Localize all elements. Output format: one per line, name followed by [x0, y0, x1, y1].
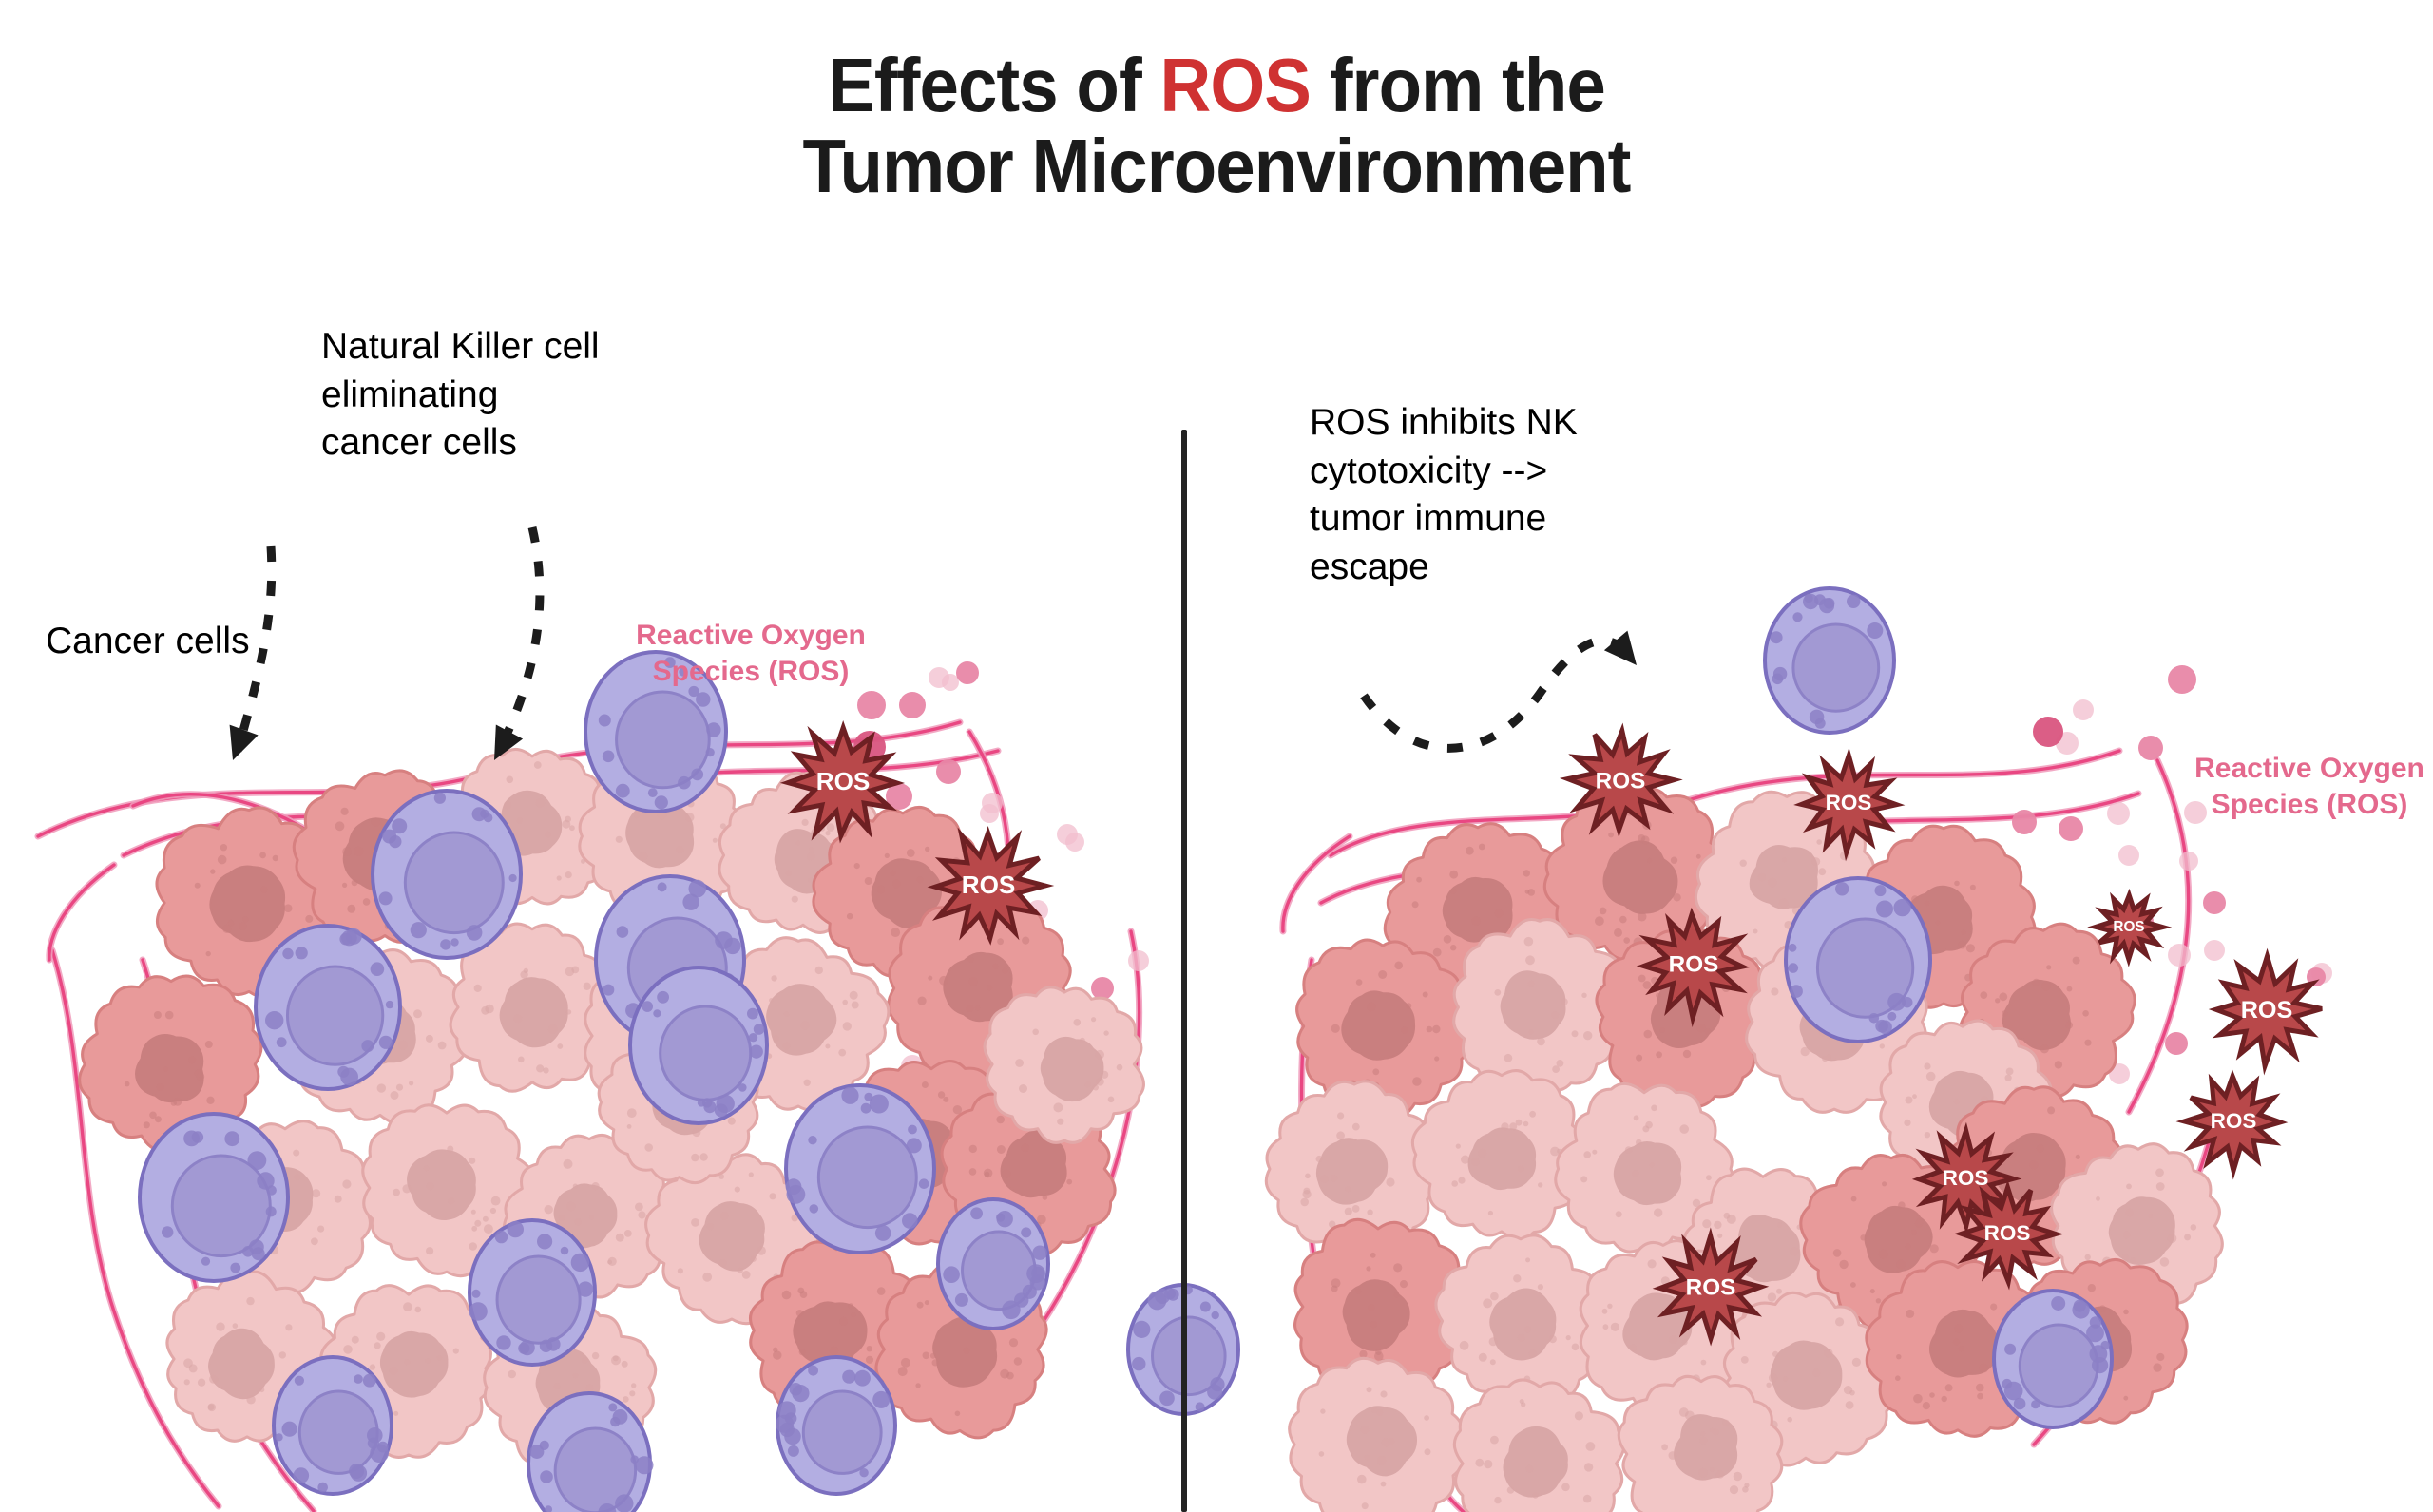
- vessel-strand-light: [1321, 794, 2138, 903]
- cancer-cell-nucleus: [2003, 981, 2070, 1049]
- cancer-cell-speckle: [658, 811, 667, 820]
- cancer-cell-membrane: [2021, 1259, 2188, 1423]
- cancer-cell-speckle: [935, 914, 941, 920]
- cancer-cell-speckle: [1367, 1003, 1376, 1012]
- cancer-cell-speckle: [1489, 1337, 1498, 1346]
- cancer-cell-speckle: [407, 811, 416, 820]
- cancer-cell-speckle: [773, 1036, 779, 1043]
- cancer-cell-speckle: [352, 1336, 359, 1344]
- cancer-cell-speckle: [1924, 1062, 1930, 1069]
- cancer-cell: [646, 1154, 819, 1324]
- cancer-cell-speckle: [1043, 1195, 1048, 1200]
- cancer-cell-speckle: [1839, 1260, 1848, 1269]
- nk-cell-granule: [2092, 1357, 2108, 1373]
- cancer-cell-speckle: [626, 784, 635, 793]
- cancer-cell-speckle: [1015, 1059, 1024, 1067]
- nk-cell-granule: [919, 1178, 929, 1189]
- cancer-cell-speckle: [2123, 1310, 2129, 1315]
- cancer-cell-speckle: [376, 1332, 385, 1341]
- cancer-cell-membrane: [711, 938, 889, 1110]
- cancer-cell-membrane: [1961, 924, 2135, 1096]
- ros-particle: [815, 896, 838, 919]
- cancer-cell-speckle: [757, 1246, 766, 1254]
- nk-cell-granule: [636, 1456, 654, 1474]
- cancer-cell-speckle: [517, 817, 524, 824]
- cancer-cell-speckle: [413, 1009, 422, 1018]
- cancer-cell-speckle: [1479, 844, 1485, 851]
- nk-cell-granule: [266, 1206, 277, 1216]
- cancer-cell-speckle: [411, 906, 417, 912]
- nk-cell-granule: [294, 1467, 310, 1483]
- cancer-cell-speckle: [702, 1273, 712, 1282]
- nk-cell-granule: [864, 1093, 872, 1101]
- cancer-cell-speckle: [1345, 1208, 1352, 1215]
- cancer-cell-speckle: [968, 977, 978, 986]
- cancer-cell-speckle: [713, 838, 718, 843]
- cancer-cell-speckle: [545, 832, 550, 837]
- cancer-cell-speckle: [171, 1100, 177, 1105]
- ros-particle: [2168, 944, 2191, 967]
- cancer-cell-membrane: [504, 1135, 669, 1297]
- cancer-cell-speckle: [1451, 1180, 1458, 1187]
- cancer-cell-speckle: [278, 1174, 284, 1179]
- cancer-cell-speckle: [697, 1114, 703, 1120]
- nk-cell-granule: [648, 788, 658, 797]
- cancer-cell-speckle: [925, 847, 929, 852]
- vessel-strand-dark: [1359, 969, 1464, 1512]
- nk-cell-granule: [495, 1231, 508, 1243]
- cancer-cell-speckle: [1765, 1420, 1772, 1427]
- cancer-cell-speckle: [1724, 1213, 1731, 1219]
- cancer-cell-nucleus: [1317, 1139, 1387, 1203]
- cancer-cell-speckle: [557, 875, 562, 880]
- cancer-cell-speckle: [520, 970, 527, 978]
- title-line-1: Effects of ROS from the: [86, 46, 2348, 126]
- cancer-cell-speckle: [584, 1018, 589, 1024]
- cancer-cell-speckle: [2067, 986, 2073, 992]
- cancer-cell: [1385, 824, 1565, 1000]
- nk-cell-granule: [808, 1136, 816, 1144]
- cancer-cell-speckle: [246, 1297, 254, 1305]
- nk-cell-nucleus: [803, 1391, 881, 1473]
- cancer-cell-speckle: [508, 1370, 516, 1379]
- cancer-cell-membrane: [197, 1121, 371, 1296]
- cancer-cell: [942, 1086, 1115, 1254]
- ros-particle: [1036, 937, 1063, 964]
- cancer-cell-speckle: [2032, 979, 2040, 986]
- cancer-cell-nucleus: [1866, 1207, 1932, 1273]
- cancer-cell-nucleus: [1042, 1038, 1103, 1101]
- cancer-cell-speckle: [485, 1005, 493, 1013]
- ros-particle: [973, 1016, 994, 1037]
- cancer-cell-speckle: [415, 1307, 422, 1313]
- cancer-cell-speckle: [872, 1187, 880, 1195]
- cancer-cell-speckle: [690, 774, 698, 781]
- cancer-cell-speckle: [592, 1182, 600, 1190]
- cancer-cell-speckle: [1766, 1383, 1771, 1388]
- ros-particle: [1002, 1044, 1021, 1063]
- nk-cell-granule: [1023, 1285, 1037, 1299]
- cancer-cell-speckle: [1337, 1112, 1344, 1119]
- cancer-cell-speckle: [1912, 1094, 1917, 1099]
- cancer-cell-speckle: [1521, 1402, 1525, 1407]
- cancer-cell-speckle: [483, 811, 492, 820]
- cancer-cell-speckle: [1673, 893, 1680, 901]
- vessel-network-right: [1283, 751, 2214, 1512]
- nk-cell-granule: [472, 807, 487, 821]
- cancer-cell: [363, 1105, 534, 1276]
- cancer-cell-speckle: [1698, 1468, 1708, 1478]
- nk-cell-membrane: [256, 926, 400, 1089]
- cancer-cell-speckle: [1819, 1028, 1827, 1036]
- cancer-cell-speckle: [696, 1005, 704, 1014]
- cancer-cell-speckle: [1693, 1199, 1700, 1207]
- cancer-cell-speckle: [1009, 1338, 1018, 1347]
- cancer-cell-speckle: [592, 1352, 599, 1359]
- ros-particle: [936, 759, 961, 784]
- cancer-cell-speckle: [1380, 1390, 1387, 1397]
- cancer-cell-speckle: [1424, 1415, 1429, 1421]
- cancer-cell-speckle: [363, 898, 371, 906]
- nk-cell-granule: [2090, 1345, 2108, 1363]
- cancer-cell-speckle: [1524, 1376, 1531, 1383]
- cancer-cell-speckle: [507, 776, 514, 784]
- cancer-cell-speckle: [1331, 1286, 1338, 1292]
- cancer-cell-speckle: [2041, 982, 2051, 991]
- cancer-cell-speckle: [1645, 1121, 1653, 1129]
- cancer-cell-speckle: [964, 1348, 970, 1354]
- cancer-cell-speckle: [534, 761, 542, 769]
- cancer-cell-nucleus: [1615, 1142, 1680, 1204]
- cancer-cell-speckle: [1484, 1460, 1492, 1468]
- cancer-cell: [1867, 1261, 2045, 1436]
- cancer-cell-speckle: [885, 1152, 892, 1159]
- cancer-cell-speckle: [2122, 1254, 2129, 1261]
- nk-cell: [469, 1220, 595, 1365]
- cancer-cell-speckle: [891, 871, 896, 876]
- cancer-cell-speckle: [248, 1216, 256, 1224]
- cancer-cell-membrane: [580, 754, 747, 922]
- nk-cell-membrane: [274, 1357, 392, 1494]
- cancer-cell-speckle: [1572, 1030, 1579, 1037]
- cancer-cell-speckle: [634, 812, 641, 818]
- cancer-cell-speckle: [838, 1049, 846, 1057]
- cancer-cell-speckle: [209, 1375, 218, 1384]
- cancer-cell-speckle: [1794, 919, 1802, 927]
- nk-cell-granule: [192, 1131, 203, 1142]
- cancer-cell-speckle: [2070, 1174, 2078, 1181]
- immune-escape-arrow-head: [1604, 631, 1648, 676]
- cancer-cell-speckle: [837, 894, 843, 900]
- cancer-cell-speckle: [1913, 1394, 1923, 1404]
- ros-burst: ROS: [1802, 756, 1897, 852]
- cancer-cell-speckle: [2082, 1010, 2089, 1017]
- cancer-cell-membrane: [294, 771, 470, 942]
- cancer-cell-speckle: [767, 1053, 773, 1059]
- cancer-cell: [80, 976, 261, 1153]
- ros-burst-label: ROS: [1984, 1221, 2031, 1245]
- cancer-cell-speckle: [1742, 1486, 1749, 1493]
- cancer-cell-speckle: [155, 1116, 162, 1122]
- cancer-cell-speckle: [1659, 1027, 1664, 1032]
- cancer-cell-speckle: [1331, 1278, 1341, 1288]
- nk-cell-membrane: [630, 967, 767, 1123]
- cancer-cell-speckle: [728, 1118, 736, 1125]
- panel-divider: [1181, 430, 1187, 1512]
- cancer-cell-speckle: [830, 1347, 838, 1355]
- cancer-cell-nucleus: [889, 1120, 961, 1188]
- cancer-cell-speckle: [1393, 1263, 1402, 1272]
- cancer-cell: [1961, 924, 2135, 1096]
- ros-burst-label: ROS: [1826, 791, 1872, 814]
- nk-cell: [786, 1085, 934, 1253]
- cancer-cell-speckle: [1490, 1436, 1499, 1445]
- cancer-cell-speckle: [189, 1364, 198, 1372]
- cancer-cell-speckle: [1961, 1118, 1966, 1123]
- cancer-cell-speckle: [2096, 1196, 2100, 1201]
- cancer-cell-speckle: [923, 1352, 930, 1360]
- cancer-cell-speckle: [1592, 1150, 1597, 1155]
- cancer-cell-speckle: [347, 1058, 355, 1066]
- cancer-cell-speckle: [581, 859, 585, 864]
- cancer-cell-speckle: [1846, 1401, 1854, 1409]
- cancer-cell-nucleus: [1490, 1289, 1555, 1359]
- cancer-cell-speckle: [684, 1064, 691, 1071]
- cancer-cell-speckle: [205, 1041, 213, 1048]
- cancer-cell-speckle: [285, 1324, 292, 1330]
- ros-particle: [857, 691, 886, 719]
- cancer-cell-speckle: [208, 1404, 217, 1412]
- cancer-cell-speckle: [795, 841, 800, 846]
- cancer-cell-speckle: [901, 1358, 910, 1368]
- cancer-cell-speckle: [1879, 1250, 1888, 1259]
- cancer-cell-speckle: [804, 1080, 811, 1086]
- nk-cell-granule: [518, 1343, 529, 1354]
- nk-cell-granule: [578, 1281, 593, 1296]
- cancer-cell: [719, 773, 882, 932]
- cancer-cell-speckle: [2006, 1068, 2014, 1076]
- vessel-strand-dark: [1302, 960, 1407, 1512]
- vessel-strand-light: [941, 732, 1008, 1074]
- cancer-cell-speckle: [969, 1168, 977, 1176]
- cancer-cell-speckle: [877, 886, 885, 893]
- cancer-cell-speckle: [1366, 1266, 1370, 1271]
- cancer-cell-speckle: [347, 905, 355, 913]
- cancer-cell-speckle: [1651, 977, 1658, 985]
- cancer-cell-speckle: [2099, 1305, 2107, 1312]
- cancer-cell-speckle: [806, 1364, 815, 1373]
- ros-burst-shape: [2096, 895, 2162, 959]
- nk-cell-granule: [1835, 882, 1849, 895]
- cancer-cell-speckle: [607, 1260, 612, 1265]
- cancer-cell-speckle: [943, 1097, 948, 1102]
- cancer-cell-nucleus: [381, 1332, 448, 1397]
- cancer-cell-speckle: [2032, 1223, 2040, 1231]
- cancer-cell-membrane: [293, 949, 469, 1123]
- cancer-cell-nucleus: [408, 1150, 475, 1219]
- nk-cell-granule: [1867, 622, 1883, 639]
- cancer-cell-speckle: [773, 1350, 781, 1359]
- cancer-cell-speckle: [1816, 839, 1822, 845]
- cancer-cell: [1454, 919, 1630, 1090]
- nk-cell-granule: [1805, 594, 1813, 603]
- nk-cell-granule: [657, 991, 669, 1004]
- nk-cell-granule: [603, 751, 615, 763]
- cancer-cell-speckle: [1995, 998, 2000, 1003]
- nk-cell-granule: [386, 1001, 393, 1008]
- cancer-cell-speckle: [295, 1174, 300, 1179]
- ros-particle: [2073, 699, 2094, 720]
- nk-cell-granule: [724, 938, 740, 954]
- nk-cell-granule: [379, 1036, 393, 1049]
- cancer-cell-speckle: [1954, 881, 1960, 887]
- cancer-cell-speckle: [1661, 1444, 1668, 1450]
- nk-cell-granule: [282, 1422, 297, 1437]
- cancer-cell-nucleus: [1623, 1293, 1691, 1359]
- nk-cell-nucleus: [287, 967, 382, 1064]
- vessel-strand-light: [38, 722, 960, 836]
- cancer-cell-speckle: [1945, 1384, 1953, 1391]
- cancer-cell-speckle: [370, 1364, 375, 1369]
- cancer-cell-speckle: [254, 1242, 263, 1252]
- cancer-cell-speckle: [800, 1291, 808, 1298]
- nk-cell-granule: [1847, 595, 1860, 608]
- cancer-cell-speckle: [1784, 921, 1792, 929]
- cancer-cell-speckle: [1977, 1393, 1983, 1400]
- cancer-cell-speckle: [1550, 1147, 1560, 1157]
- cancer-cell-speckle: [1614, 928, 1622, 937]
- cancer-cell-speckle: [1581, 993, 1586, 998]
- nk-cell-granule: [520, 1340, 535, 1355]
- cancer-cell-speckle: [692, 1017, 700, 1025]
- cancer-cell-membrane: [889, 900, 1070, 1082]
- cancer-cell-speckle: [1811, 857, 1820, 866]
- cancer-cell-nucleus: [1603, 841, 1676, 913]
- cancer-cell-speckle: [1583, 1495, 1592, 1503]
- cancer-cell-speckle: [1450, 889, 1456, 894]
- cancer-cell-speckle: [195, 1069, 202, 1077]
- cancer-cell-speckle: [1895, 1375, 1901, 1381]
- cancer-cell-speckle: [1475, 1459, 1484, 1467]
- cancer-cell-speckle: [535, 798, 545, 808]
- cancer-cell-speckle: [609, 1402, 618, 1410]
- nk-cell-granule: [242, 1246, 254, 1257]
- nk-cell-granule: [706, 722, 720, 737]
- nk-cell-granule: [787, 1185, 806, 1204]
- cancer-cell-speckle: [1356, 979, 1363, 986]
- nk-cell-granule: [363, 1374, 376, 1388]
- ros-particle: [2127, 909, 2154, 935]
- cancer-cell-membrane: [1544, 787, 1725, 965]
- cancer-cell-speckle: [490, 1208, 496, 1214]
- ros-particle: [980, 804, 999, 823]
- cancer-cell-speckle: [1835, 1317, 1844, 1326]
- cancer-cell: [1580, 1241, 1749, 1415]
- cancer-cell-speckle: [1925, 1132, 1930, 1138]
- cancer-cell-speckle: [554, 1383, 561, 1389]
- nk-cell-nucleus: [405, 833, 503, 933]
- cancer-cell-membrane: [1297, 940, 1471, 1119]
- cancer-cell-speckle: [663, 1089, 671, 1097]
- cancer-cell-speckle: [1468, 963, 1473, 967]
- cancer-cell-speckle: [575, 1218, 582, 1225]
- cancer-cell-speckle: [681, 887, 688, 893]
- cancer-cell-speckle: [928, 976, 932, 981]
- vessel-strand-dark: [133, 794, 314, 834]
- cancer-cell-speckle: [184, 1379, 190, 1385]
- cancer-cell-speckle: [1367, 1387, 1372, 1392]
- cancer-cell-speckle: [1651, 1105, 1657, 1112]
- cancer-cell-nucleus: [872, 859, 941, 928]
- cancer-cell-speckle: [808, 877, 814, 883]
- cancer-cell-speckle: [678, 1268, 683, 1273]
- cancer-cell-speckle: [1876, 1298, 1881, 1303]
- cancer-cell-speckle: [1036, 1222, 1042, 1228]
- cancer-cell-speckle: [1466, 847, 1474, 855]
- cancer-cell-speckle: [2126, 1209, 2134, 1216]
- cancer-cell-speckle: [565, 967, 575, 977]
- cancer-cell-speckle: [1488, 1211, 1493, 1215]
- cancer-cell-speckle: [1644, 1030, 1653, 1039]
- nk-cell-granule: [747, 1008, 758, 1020]
- ros-burst-shape: [788, 728, 896, 836]
- cancer-cell: [836, 1062, 1025, 1244]
- nk-cell-granule: [788, 1445, 799, 1457]
- cancer-cell-speckle: [1321, 1175, 1330, 1183]
- nk-cell-nucleus: [617, 692, 710, 788]
- cancer-cell-speckle: [917, 876, 924, 883]
- nk-cell-granule: [340, 1068, 358, 1086]
- nk-cell-granule: [411, 922, 427, 938]
- cancer-cell-speckle: [2122, 1266, 2132, 1275]
- cancer-cell-speckle: [568, 1262, 574, 1268]
- cancer-cell-speckle: [317, 1226, 324, 1233]
- cancer-cell-speckle: [675, 782, 680, 788]
- cancer-cell-speckle: [2046, 1326, 2052, 1331]
- cancer-cell-speckle: [1768, 1292, 1776, 1301]
- cancer-cell-speckle: [1734, 1472, 1742, 1481]
- cancer-cell-speckle: [188, 1056, 196, 1063]
- nk-cell-granule: [1876, 901, 1893, 918]
- cancer-cell-speckle: [1978, 1167, 1983, 1173]
- nk-cell-granule: [785, 1412, 797, 1425]
- nk-cell-granule: [317, 1483, 328, 1493]
- cancer-cell-speckle: [367, 983, 373, 988]
- cancer-cell-speckle: [233, 1323, 239, 1329]
- cancer-cell-speckle: [1032, 1029, 1039, 1036]
- vessel-strand-dark: [49, 865, 114, 960]
- cancer-cell-speckle: [1101, 1071, 1108, 1079]
- nk-cell-granule: [870, 1095, 889, 1114]
- ros-burst-shape: [2216, 956, 2322, 1065]
- nk-cell-granule: [625, 1003, 641, 1018]
- cancer-cell-speckle: [2160, 1257, 2170, 1267]
- cancer-cell-speckle: [852, 1002, 859, 1009]
- cancer-cell-speckle: [1108, 1097, 1115, 1103]
- cancer-cell-speckle: [927, 908, 933, 914]
- cancer-cell-membrane: [320, 1286, 490, 1458]
- cancer-cell-speckle: [1575, 1411, 1583, 1420]
- nk-cell-granule: [842, 1370, 855, 1384]
- cancer-cell-speckle: [1363, 1080, 1372, 1089]
- cancer-cell-speckle: [1096, 1078, 1104, 1086]
- cancer-cell-speckle: [1981, 1097, 1988, 1104]
- cancer-cell-nucleus: [1772, 1342, 1842, 1409]
- cancer-cell: [2021, 1259, 2188, 1423]
- cancer-cell-speckle: [2130, 1257, 2136, 1263]
- cancer-cell-speckle: [1811, 936, 1817, 942]
- nk-cell-granule: [1815, 718, 1826, 729]
